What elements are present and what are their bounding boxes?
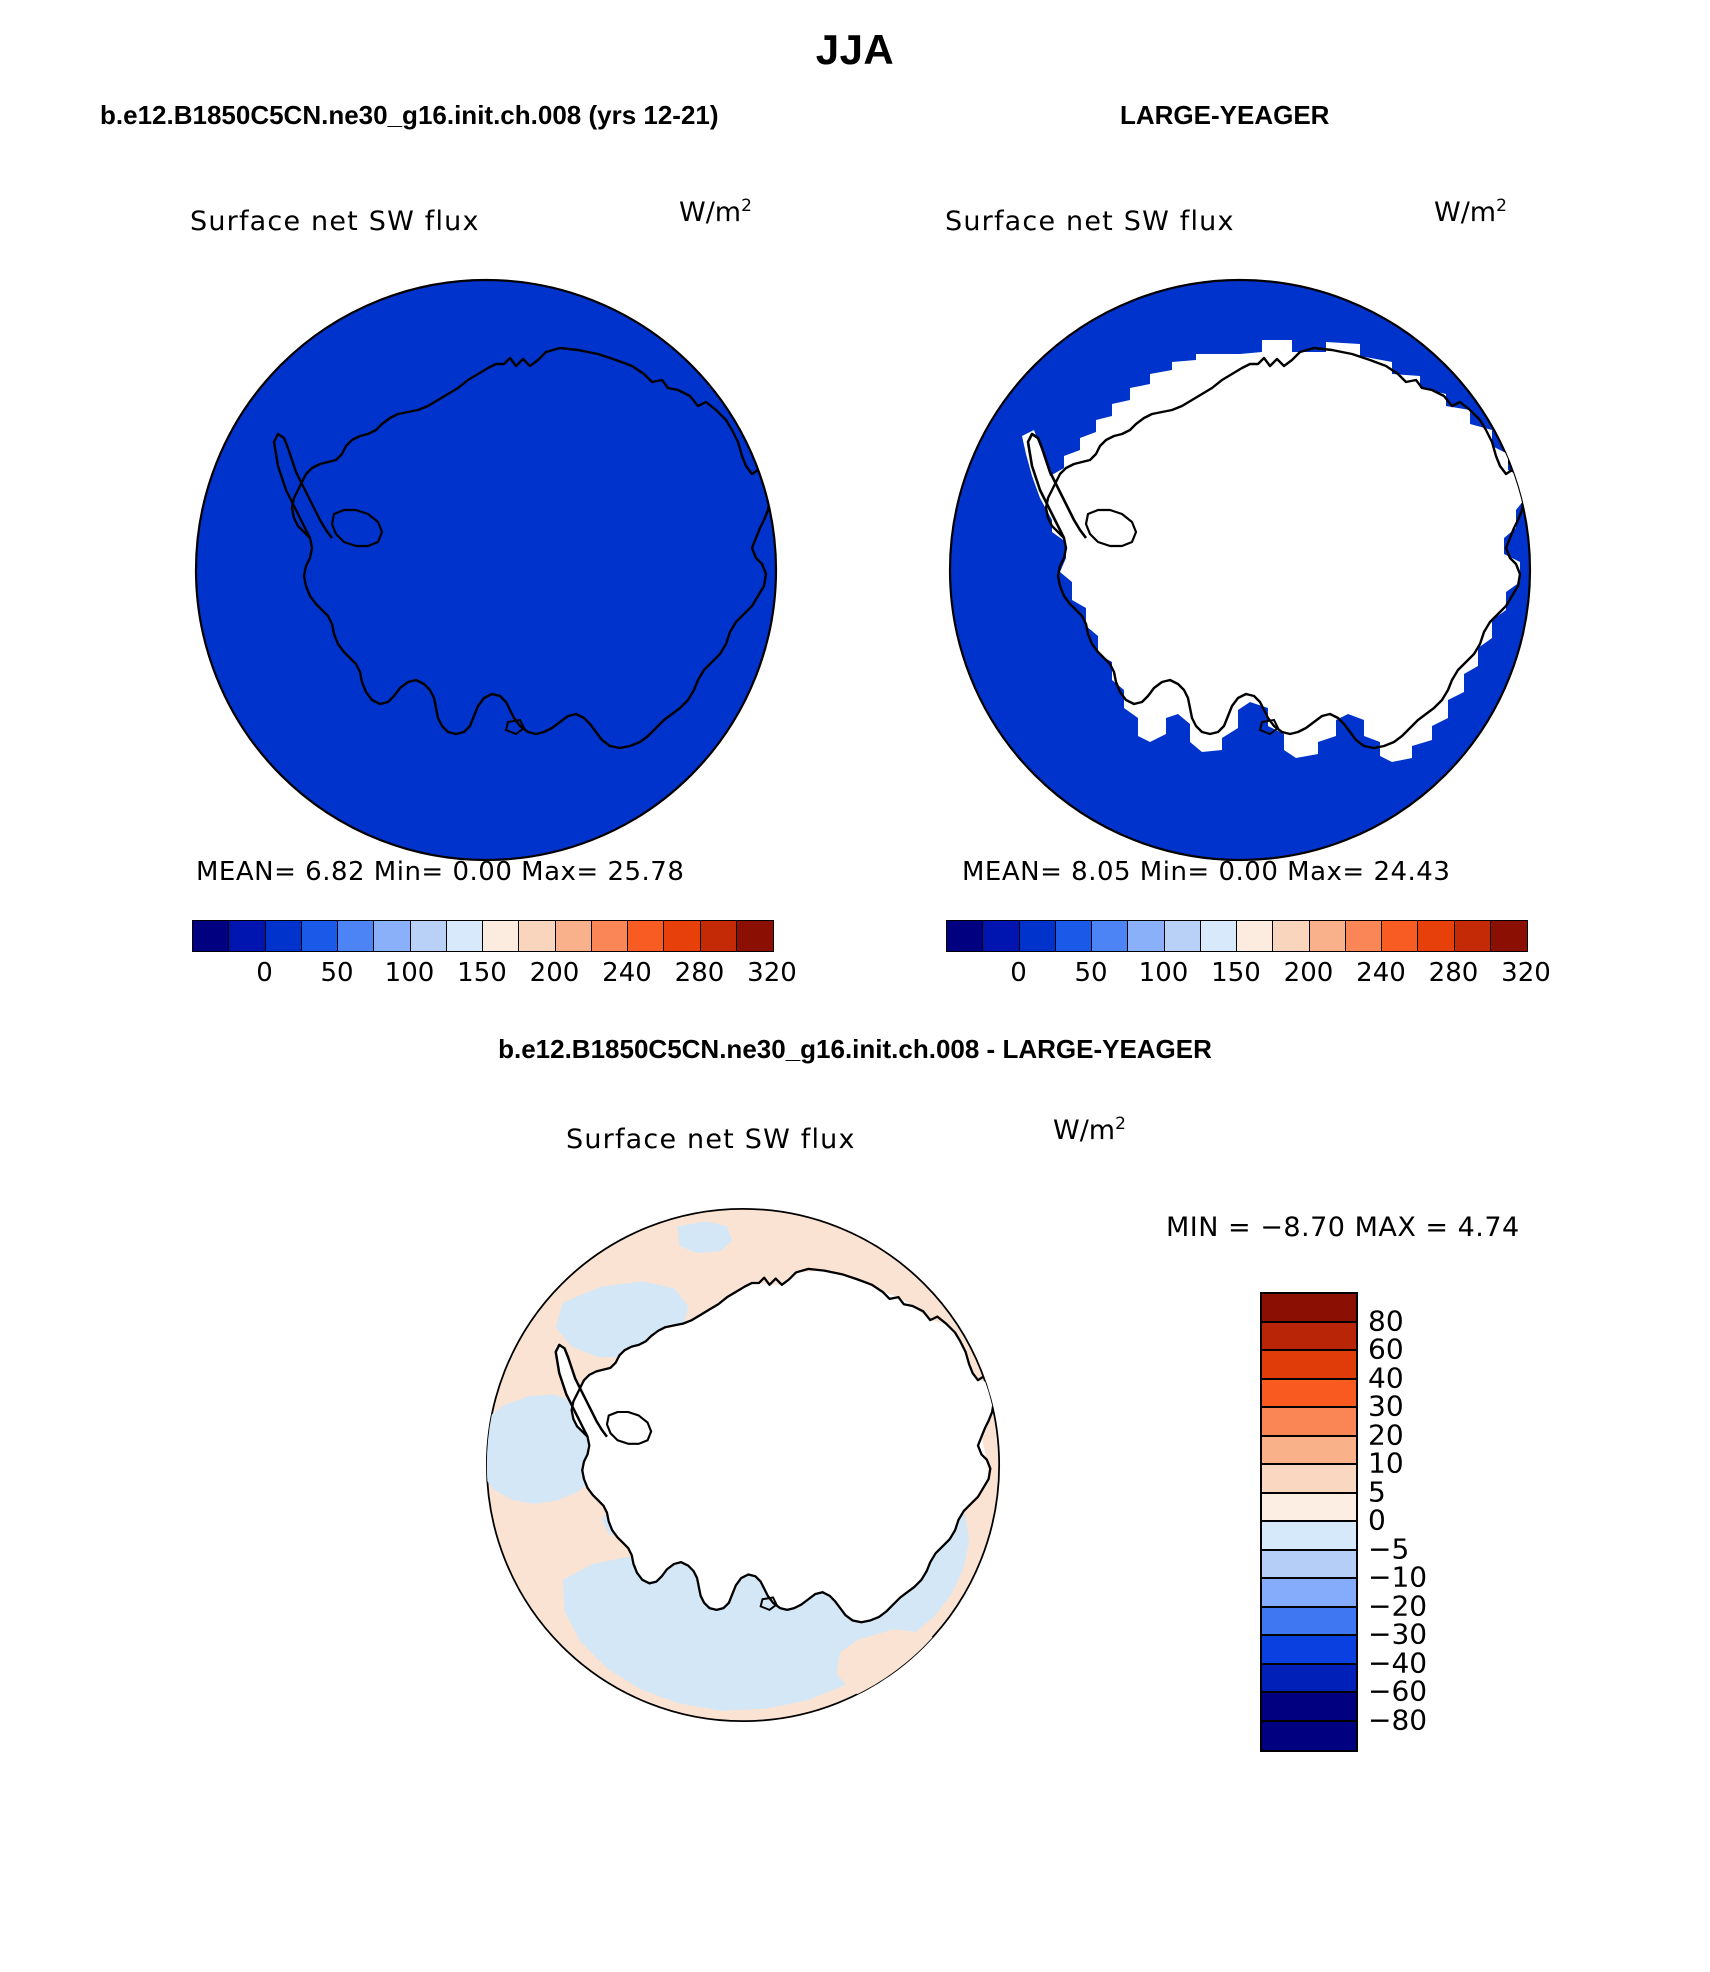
left-units-exponent: 2	[741, 196, 752, 216]
colorbar-cell	[229, 921, 265, 951]
colorbar-cell	[483, 921, 519, 951]
diff-panel-title: b.e12.B1850C5CN.ne30_g16.init.ch.008 - L…	[0, 1034, 1710, 1065]
left-panel-title: b.e12.B1850C5CN.ne30_g16.init.ch.008 (yr…	[100, 100, 719, 131]
right-panel-title: LARGE-YEAGER	[1120, 100, 1329, 131]
colorbar-tick-label: 0	[256, 958, 273, 988]
diff-units-label: W/m2	[1053, 1114, 1126, 1146]
map-model-svg	[186, 270, 786, 870]
colorbar-cell	[556, 921, 592, 951]
right-variable-label: Surface net SW flux	[945, 206, 1235, 237]
left-panel-stats: MEAN= 6.82 Min= 0.00 Max= 25.78	[196, 857, 684, 887]
colorbar-cell	[266, 921, 302, 951]
colorbar-tick-label: −80	[1368, 1703, 1427, 1736]
colorbar-cell	[1382, 921, 1418, 951]
colorbar-tick-label: 280	[675, 958, 725, 988]
colorbar-tick-label: 150	[1211, 958, 1261, 988]
colorbar-cell	[447, 921, 483, 951]
colorbar-cell	[338, 921, 374, 951]
colorbar-tick-label: 240	[1356, 958, 1406, 988]
diff-minmax-annotation: MIN = −8.70 MAX = 4.74	[1166, 1212, 1520, 1243]
right-units-label: W/m2	[1434, 196, 1507, 228]
colorbar-tick-label: 50	[320, 958, 353, 988]
colorbar-observation[interactable]	[946, 920, 1528, 952]
colorbar-cell	[302, 921, 338, 951]
colorbar-cell	[592, 921, 628, 951]
colorbar-cell	[1310, 921, 1346, 951]
colorbar-observation-ticks: 050100150200240280320	[946, 958, 1526, 994]
colorbar-cell	[1128, 921, 1164, 951]
colorbar-cell	[664, 921, 700, 951]
colorbar-cell	[1346, 921, 1382, 951]
colorbar-cell	[983, 921, 1019, 951]
colorbar-cell	[1455, 921, 1491, 951]
colorbar-cell	[701, 921, 737, 951]
colorbar-model-ticks: 050100150200240280320	[192, 958, 772, 994]
ocean-disc-model	[196, 280, 776, 860]
map-observation-svg	[940, 270, 1540, 870]
colorbar-cell	[1262, 1323, 1356, 1352]
colorbar-cell	[947, 921, 983, 951]
colorbar-cell	[1262, 1579, 1356, 1608]
colorbar-tick-label: 100	[1139, 958, 1189, 988]
colorbar-tick-label: 320	[747, 958, 797, 988]
small-island-difference	[570, 1216, 582, 1225]
colorbar-cell	[1262, 1636, 1356, 1665]
colorbar-cell	[374, 921, 410, 951]
colorbar-cell	[1262, 1551, 1356, 1580]
colorbar-tick-label: 200	[530, 958, 580, 988]
colorbar-tick-label: 320	[1501, 958, 1551, 988]
colorbar-difference[interactable]	[1260, 1292, 1358, 1752]
colorbar-tick-label: 200	[1284, 958, 1334, 988]
colorbar-model[interactable]	[192, 920, 774, 952]
colorbar-tick-label: 50	[1074, 958, 1107, 988]
right-units-text: W/m	[1434, 197, 1496, 228]
colorbar-cell	[1056, 921, 1092, 951]
right-panel-stats: MEAN= 8.05 Min= 0.00 Max= 24.43	[962, 857, 1450, 887]
colorbar-tick-label: 100	[385, 958, 435, 988]
diff-variable-label: Surface net SW flux	[566, 1124, 856, 1155]
colorbar-cell	[1262, 1608, 1356, 1637]
right-units-exponent: 2	[1496, 196, 1507, 216]
colorbar-cell	[1165, 921, 1201, 951]
map-model-panel[interactable]	[186, 270, 786, 870]
colorbar-cell	[628, 921, 664, 951]
left-units-label: W/m2	[679, 196, 752, 228]
colorbar-cell	[1262, 1465, 1356, 1494]
colorbar-cell	[737, 921, 773, 951]
small-island-observation	[1044, 288, 1058, 298]
colorbar-cell	[1237, 921, 1273, 951]
map-difference-svg	[478, 1200, 1008, 1730]
colorbar-cell	[1201, 921, 1237, 951]
colorbar-cell	[1418, 921, 1454, 951]
colorbar-cell	[1262, 1665, 1356, 1694]
colorbar-cell	[1491, 921, 1527, 951]
colorbar-cell	[1262, 1522, 1356, 1551]
colorbar-tick-label: 280	[1429, 958, 1479, 988]
colorbar-difference-ticks: 80604030201050−5−10−20−30−40−60−80	[1368, 1292, 1478, 1748]
diff-units-exponent: 2	[1115, 1114, 1126, 1134]
season-title: JJA	[0, 26, 1710, 74]
colorbar-cell	[1262, 1693, 1356, 1722]
colorbar-tick-label: 240	[602, 958, 652, 988]
colorbar-cell	[1020, 921, 1056, 951]
left-units-text: W/m	[679, 197, 741, 228]
small-island-model	[290, 288, 304, 298]
colorbar-tick-label: 150	[457, 958, 507, 988]
colorbar-cell	[1262, 1437, 1356, 1466]
colorbar-cell	[1262, 1408, 1356, 1437]
colorbar-cell	[1273, 921, 1309, 951]
colorbar-cell	[1262, 1380, 1356, 1409]
colorbar-cell	[1262, 1494, 1356, 1523]
left-variable-label: Surface net SW flux	[190, 206, 480, 237]
map-difference-panel[interactable]	[478, 1200, 1008, 1730]
colorbar-cell	[193, 921, 229, 951]
colorbar-tick-label: 0	[1010, 958, 1027, 988]
colorbar-cell	[519, 921, 555, 951]
colorbar-cell	[1092, 921, 1128, 951]
colorbar-cell	[1262, 1351, 1356, 1380]
diff-units-text: W/m	[1053, 1115, 1115, 1146]
colorbar-cell	[411, 921, 447, 951]
colorbar-cell	[1262, 1294, 1356, 1323]
colorbar-cell	[1262, 1722, 1356, 1751]
map-observation-panel[interactable]	[940, 270, 1540, 870]
